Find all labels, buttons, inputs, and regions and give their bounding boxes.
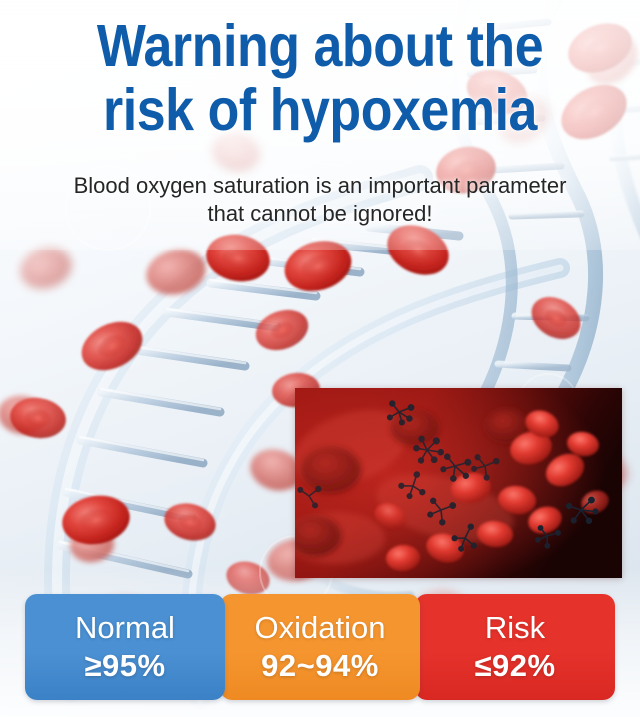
- legend-card-normal[interactable]: Normal ≥95%: [25, 594, 225, 700]
- legend-card-risk[interactable]: Risk ≤92%: [415, 594, 615, 700]
- page-title-line-1: Warning about the: [38, 14, 601, 78]
- legend-card-oxidation[interactable]: Oxidation 92~94%: [220, 594, 420, 700]
- poster-root: Warning about the risk of hypoxemia Bloo…: [0, 0, 640, 717]
- blood-microscopy-inset: [295, 388, 622, 578]
- legend-value-normal: ≥95%: [84, 648, 165, 684]
- page-subtitle-line-2: that cannot be ignored!: [30, 200, 610, 228]
- legend-value-oxidation: 92~94%: [261, 648, 379, 684]
- page-subtitle: Blood oxygen saturation is an important …: [30, 172, 610, 228]
- legend-value-risk: ≤92%: [474, 648, 555, 684]
- page-title-line-2: risk of hypoxemia: [38, 78, 601, 142]
- page-title: Warning about the risk of hypoxemia: [0, 14, 640, 142]
- legend-label-oxidation: Oxidation: [255, 610, 386, 646]
- page-subtitle-line-1: Blood oxygen saturation is an important …: [74, 173, 567, 198]
- legend-label-normal: Normal: [75, 610, 175, 646]
- legend-label-risk: Risk: [485, 610, 545, 646]
- saturation-legend: Normal ≥95% Oxidation 92~94% Risk ≤92%: [25, 594, 615, 700]
